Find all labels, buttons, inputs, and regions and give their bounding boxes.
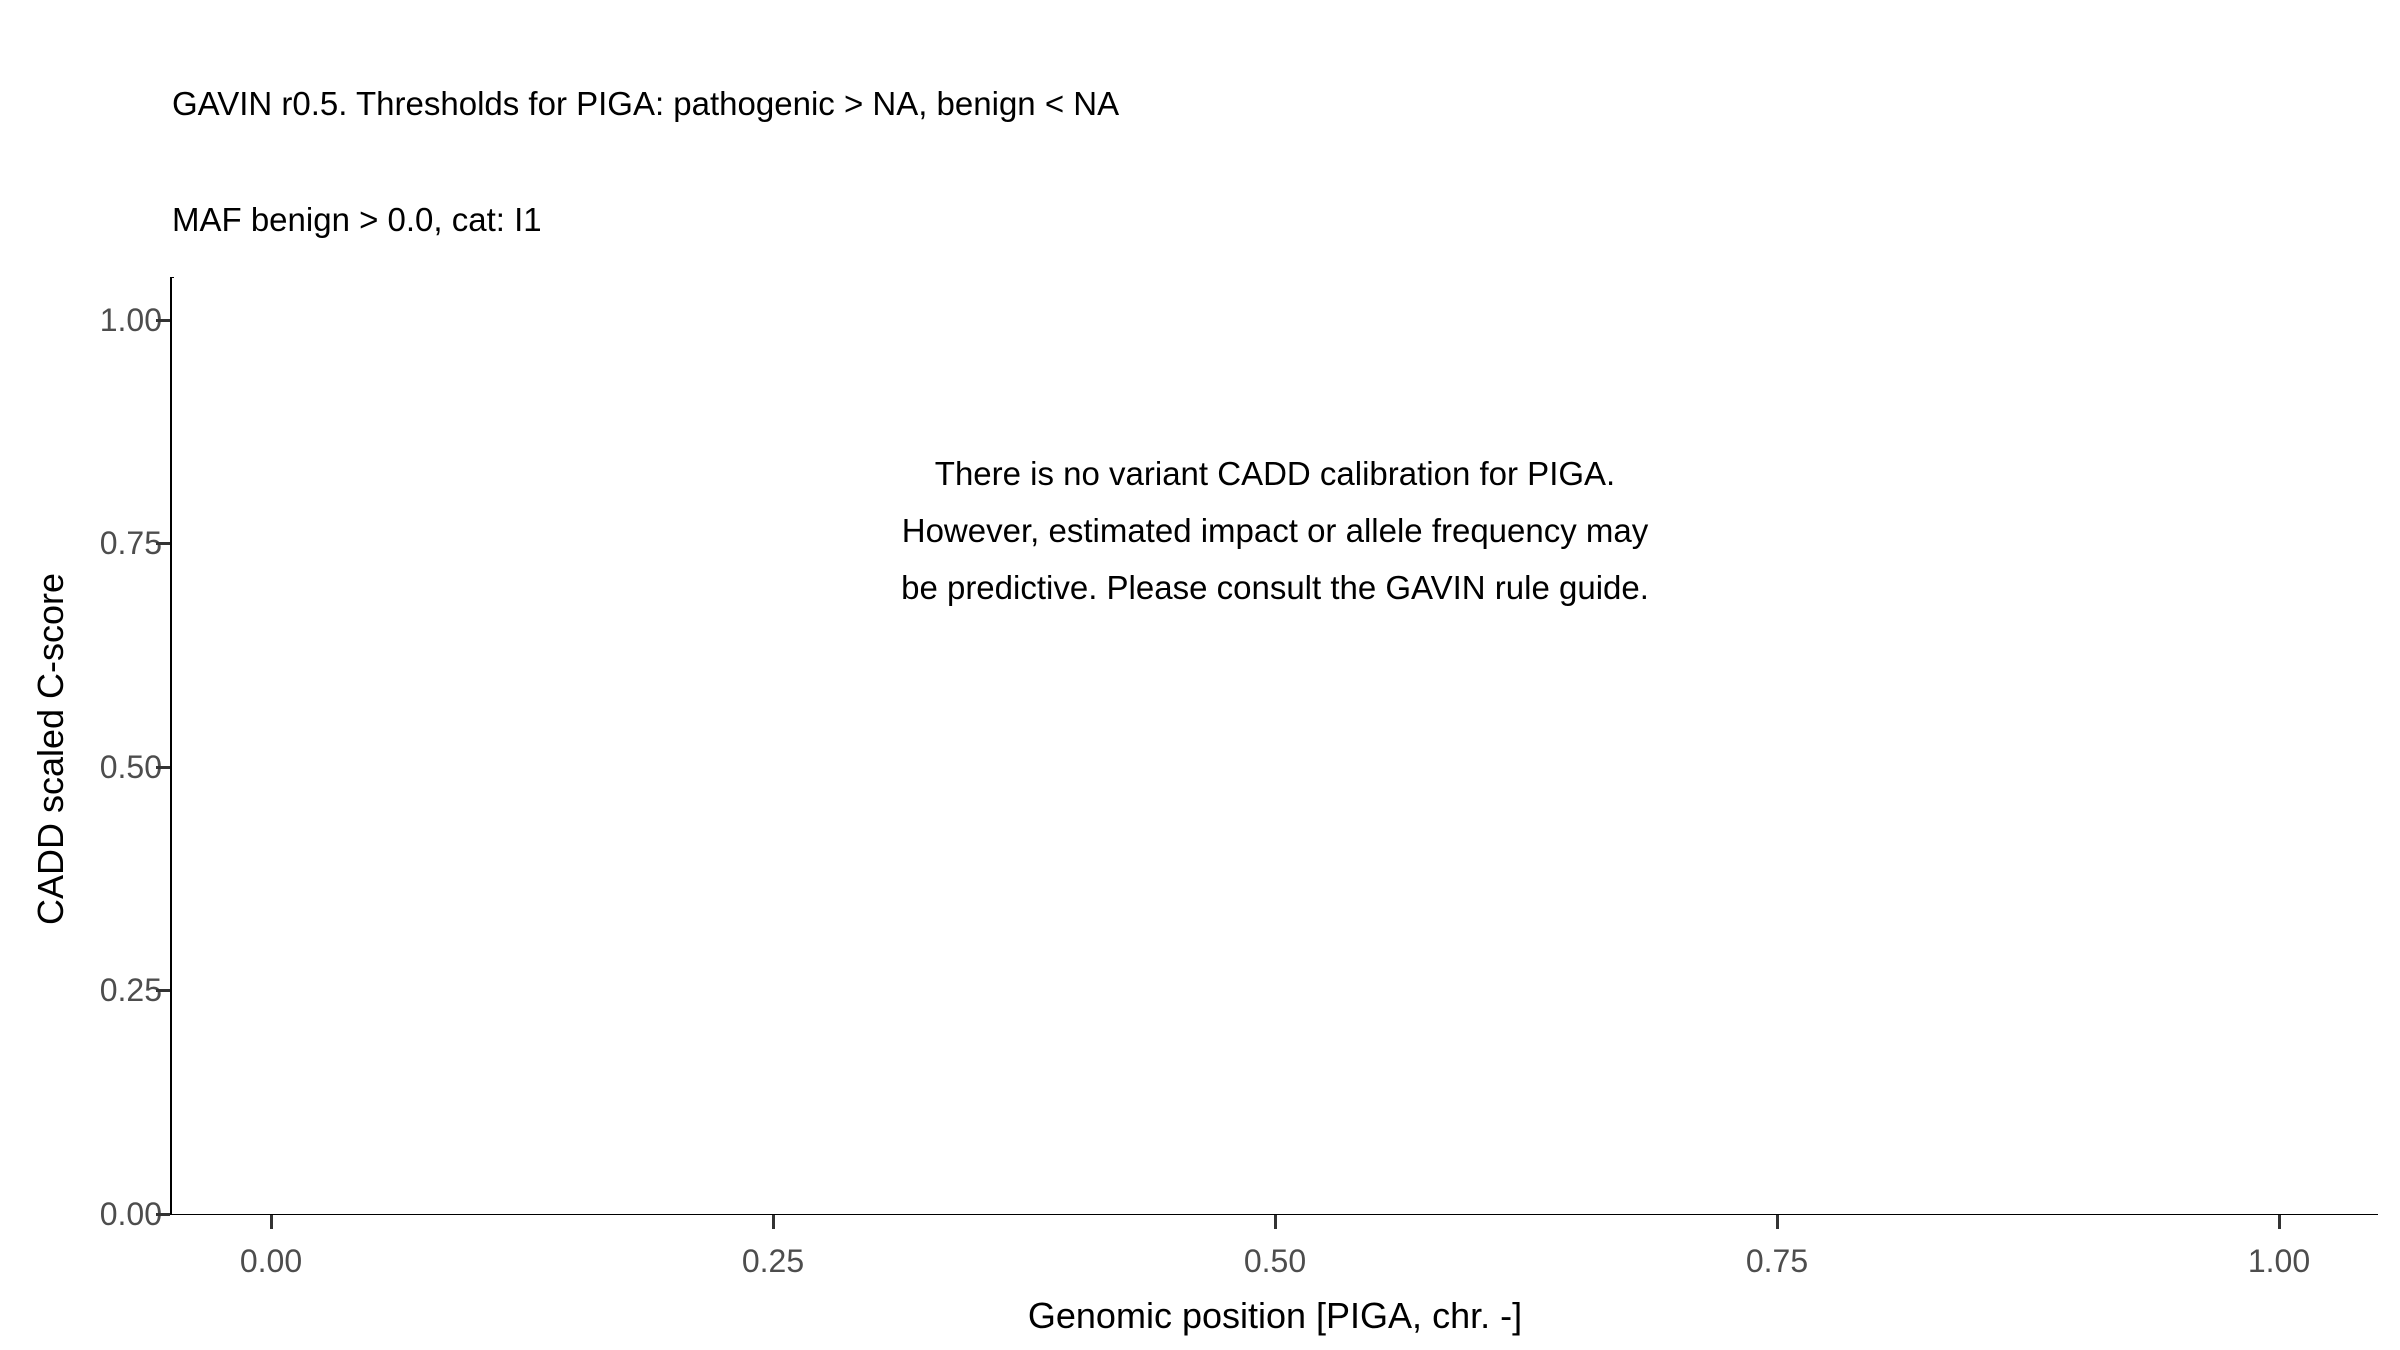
no-calibration-annotation: There is no variant CADD calibration for… (901, 445, 1649, 616)
x-tick-label-0.25: 0.25 (742, 1245, 804, 1277)
x-tick-mark-0.25 (772, 1215, 775, 1229)
annotation-line-3: be predictive. Please consult the GAVIN … (901, 559, 1649, 616)
x-tick-label-0.00: 0.00 (240, 1245, 302, 1277)
y-tick-mark-0.00 (156, 1213, 170, 1216)
x-tick-label-0.50: 0.50 (1244, 1245, 1306, 1277)
title-line-1: GAVIN r0.5. Thresholds for PIGA: pathoge… (172, 85, 2272, 124)
y-tick-label-0.00: 0.00 (100, 1198, 162, 1230)
x-tick-mark-1.00 (2278, 1215, 2281, 1229)
x-tick-mark-0.50 (1274, 1215, 1277, 1229)
y-tick-label-1.00: 1.00 (100, 304, 162, 336)
annotation-line-2: However, estimated impact or allele freq… (901, 502, 1649, 559)
title-line-2: MAF benign > 0.0, cat: I1 (172, 201, 2272, 240)
plot-panel: There is no variant CADD calibration for… (172, 278, 2378, 1214)
x-axis-title: Genomic position [PIGA, chr. -] (172, 1295, 2378, 1337)
x-tick-mark-0.00 (270, 1215, 273, 1229)
y-tick-mark-0.25 (156, 989, 170, 992)
y-tick-mark-1.00 (156, 319, 170, 322)
y-tick-label-0.75: 0.75 (100, 527, 162, 559)
y-tick-mark-0.50 (156, 766, 170, 769)
x-tick-label-0.75: 0.75 (1746, 1245, 1808, 1277)
x-tick-label-1.00: 1.00 (2248, 1245, 2310, 1277)
y-tick-mark-0.75 (156, 542, 170, 545)
y-tick-label-0.25: 0.25 (100, 974, 162, 1006)
annotation-line-1: There is no variant CADD calibration for… (901, 445, 1649, 502)
x-tick-mark-0.75 (1776, 1215, 1779, 1229)
y-tick-label-0.50: 0.50 (100, 751, 162, 783)
y-axis-title: CADD scaled C-score (30, 281, 72, 1217)
